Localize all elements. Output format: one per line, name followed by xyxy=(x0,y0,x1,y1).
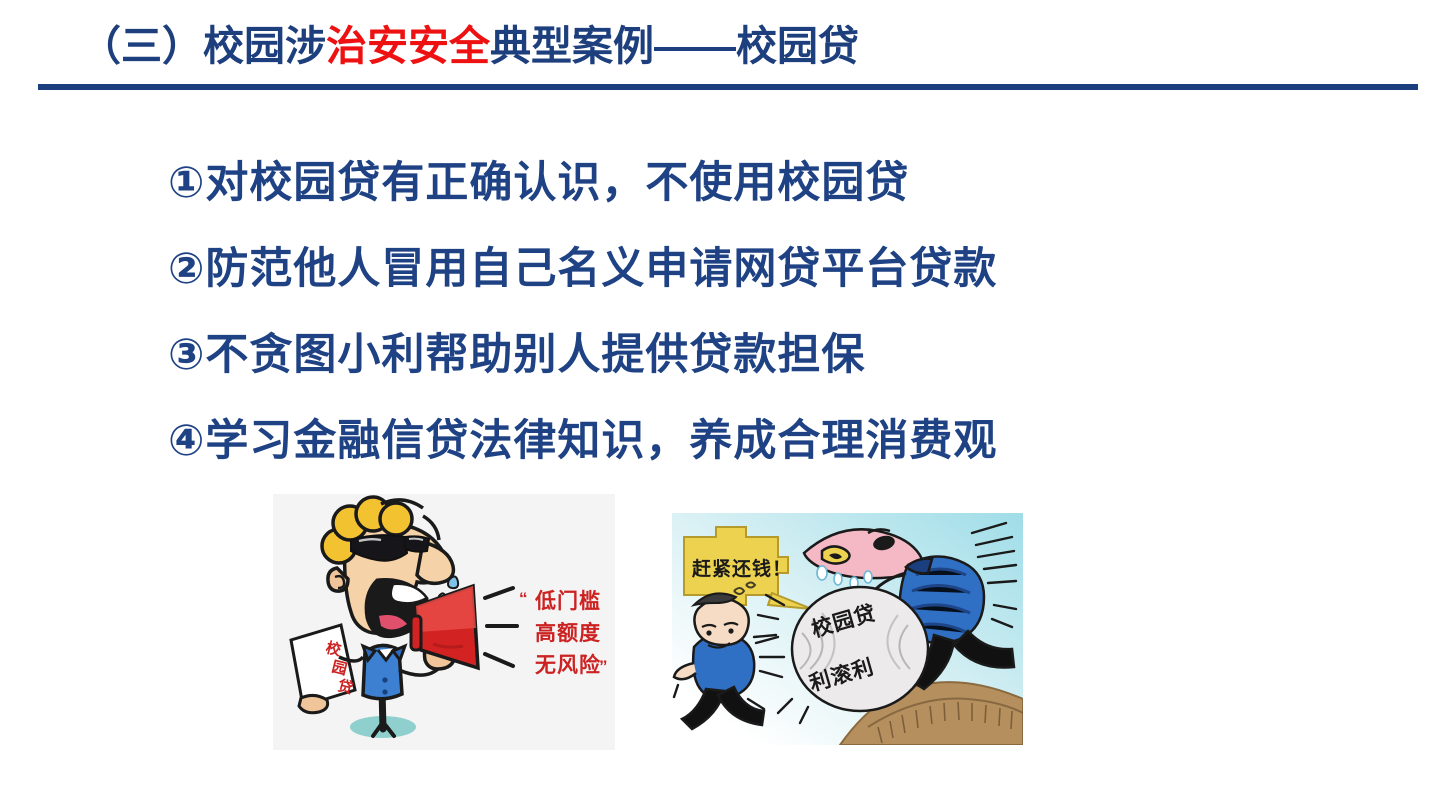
illustration-rolling-boulder-debt: 赶紧还钱！ xyxy=(672,513,1023,745)
slogan-open-quote: “ xyxy=(519,589,528,608)
title-segment-3: 典型案例——校园贷 xyxy=(490,23,859,69)
slogan-line-2: 高额度 xyxy=(535,621,601,645)
slogan-line-3: 无风险 xyxy=(535,653,601,677)
bullet-item-1: ①对校园贷有正确认识，不使用校园贷 xyxy=(168,140,1318,226)
bullet-list: ①对校园贷有正确认识，不使用校园贷 ②防范他人冒用自己名义申请网贷平台贷款 ③不… xyxy=(168,140,1318,484)
bullet-item-2: ②防范他人冒用自己名义申请网贷平台贷款 xyxy=(168,226,1318,312)
slide-title-block: （三）校园涉治安安全典型案例——校园贷 xyxy=(38,18,1418,88)
bullet-item-3: ③不贪图小利帮助别人提供贷款担保 xyxy=(168,312,1318,398)
sweat-drop-1 xyxy=(448,576,458,588)
bullet-item-4: ④学习金融信贷法律知识，养成合理消费观 xyxy=(168,398,1318,484)
illustration-loan-shark-megaphone: 校 园 贷 xyxy=(273,494,615,750)
left-hand xyxy=(299,695,328,712)
speech-bubble-text: 赶紧还钱！ xyxy=(691,557,792,580)
slogan-close-quote: ” xyxy=(599,657,608,676)
runner-head xyxy=(694,598,748,645)
figure-row: 校 园 贷 xyxy=(0,492,1452,762)
title-segment-1: （三）校园涉 xyxy=(80,23,326,69)
title-divider xyxy=(38,84,1418,90)
slogan-line-1: 低门槛 xyxy=(534,589,601,613)
page-title: （三）校园涉治安安全典型案例——校园贷 xyxy=(38,18,1418,74)
slide-canvas: （三）校园涉治安安全典型案例——校园贷 ①对校园贷有正确认识，不使用校园贷 ②防… xyxy=(0,0,1452,812)
title-segment-highlight: 治安安全 xyxy=(326,23,490,69)
